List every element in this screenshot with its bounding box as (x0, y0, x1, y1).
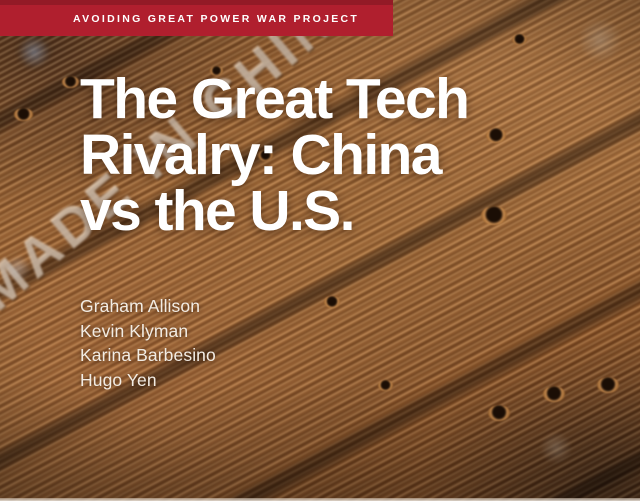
author-name: Kevin Klyman (80, 319, 216, 344)
author-name: Hugo Yen (80, 368, 216, 393)
page-title-line-2: Rivalry: China (80, 128, 550, 184)
page-title-line-1: The Great Tech (80, 72, 550, 128)
author-name: Graham Allison (80, 294, 216, 319)
author-name: Karina Barbesino (80, 343, 216, 368)
report-cover: MADE IN CHINA AVOIDING GREAT POWER WAR P… (0, 0, 640, 501)
cover-content: The Great Tech Rivalry: China vs the U.S… (0, 0, 640, 501)
page-title: The Great Tech Rivalry: China vs the U.S… (80, 72, 550, 240)
author-list: Graham Allison Kevin Klyman Karina Barbe… (80, 294, 216, 392)
page-title-line-3: vs the U.S. (80, 184, 550, 240)
